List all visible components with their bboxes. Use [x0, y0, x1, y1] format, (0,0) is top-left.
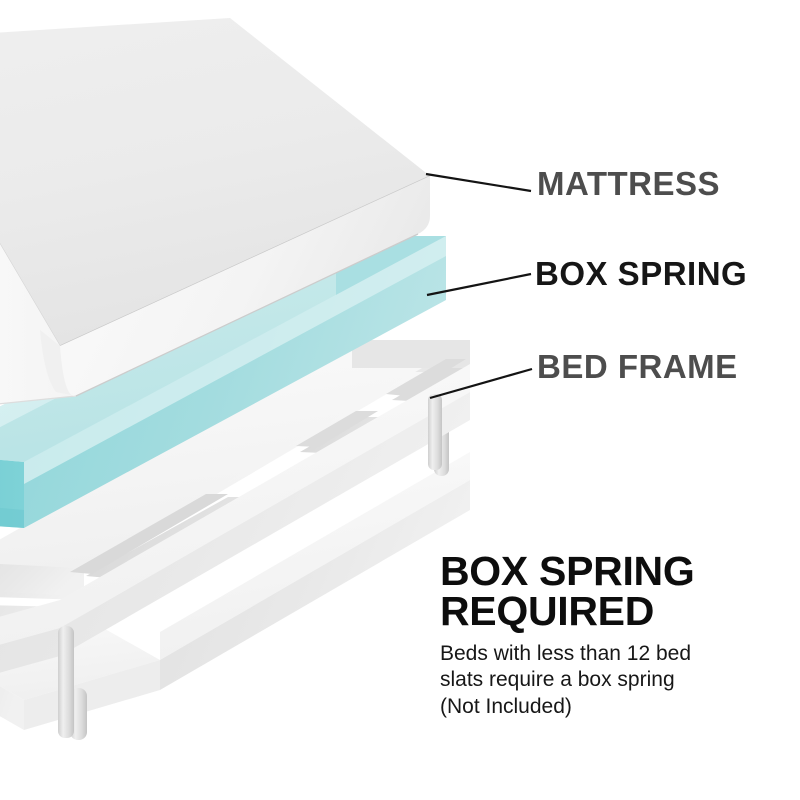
frame-leg-right	[428, 394, 442, 470]
notice-body-line-1: Beds with less than 12 bed	[440, 641, 790, 668]
notice-body-line-3: (Not Included)	[440, 694, 790, 721]
box-spring-required-notice: BOX SPRING REQUIRED Beds with less than …	[440, 552, 790, 721]
notice-heading: BOX SPRING REQUIRED	[440, 552, 790, 632]
callout-label-bed-frame: BED FRAME	[537, 350, 738, 383]
callout-label-mattress: MATTRESS	[537, 167, 720, 200]
product-infographic: MATTRESS BOX SPRING BED FRAME BOX SPRING…	[0, 0, 800, 800]
notice-heading-line-2: REQUIRED	[440, 592, 790, 632]
leader-line-mattress	[426, 174, 531, 191]
notice-body-line-2: slats require a box spring	[440, 667, 790, 694]
notice-body: Beds with less than 12 bed slats require…	[440, 641, 790, 722]
callout-label-box-spring: BOX SPRING	[535, 257, 747, 290]
notice-heading-line-1: BOX SPRING	[440, 552, 790, 592]
frame-leg-front	[58, 626, 74, 738]
